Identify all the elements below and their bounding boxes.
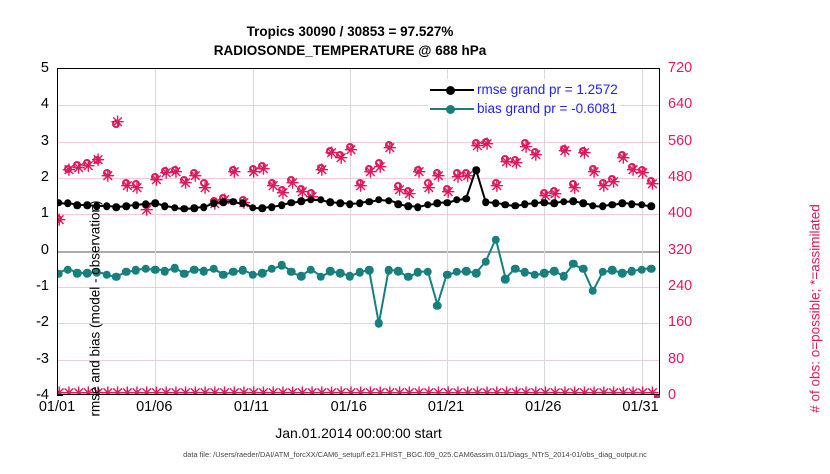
rmse-marker [132, 202, 140, 210]
y-tick-label-right: 400 [668, 205, 692, 221]
obs-assimilated-marker [646, 182, 657, 193]
legend-label-bias: bias grand pr = -0.6081 [477, 101, 617, 116]
bias-marker [443, 270, 452, 279]
bias-marker [277, 261, 286, 270]
rmse-marker [550, 200, 558, 208]
x-tick-label: 01/06 [136, 399, 172, 415]
rmse-marker [171, 204, 179, 212]
rmse-marker [346, 200, 354, 208]
bias-marker [346, 272, 355, 281]
bias-marker [248, 270, 257, 279]
rmse-marker [424, 201, 432, 209]
rmse-marker [385, 197, 393, 205]
bias-marker [647, 265, 656, 274]
series-line-segment [495, 239, 507, 279]
rmse-marker [482, 199, 490, 207]
bias-marker [540, 269, 549, 278]
bias-marker [375, 319, 384, 328]
rmse-marker [570, 198, 578, 206]
rmse-marker [229, 198, 237, 206]
rmse-marker [628, 200, 636, 208]
obs-assimilated-marker [558, 149, 569, 160]
y-axis-left-label: rmse and bias (model - observation) [88, 144, 103, 474]
rmse-marker [443, 199, 451, 207]
bias-marker [287, 267, 296, 276]
rmse-marker [190, 204, 198, 212]
y-tick-label-left: 4 [41, 96, 49, 112]
rmse-marker [239, 200, 247, 208]
bias-marker [336, 269, 345, 278]
rmse-marker [74, 202, 82, 210]
bias-marker [161, 267, 170, 276]
obs-assimilated-marker [490, 183, 501, 194]
rmse-marker [327, 199, 335, 207]
y-tick-label-left: 1 [41, 205, 49, 221]
y-tick-label-right: 160 [668, 314, 692, 330]
y-tick-label-left: 3 [41, 133, 49, 149]
chart-legend: rmse grand pr = 1.2572 bias grand pr = -… [428, 79, 620, 119]
bias-marker [521, 268, 530, 277]
chart-page: Tropics 30090 / 30853 = 97.527% RADIOSON… [0, 0, 830, 470]
bias-marker [268, 265, 277, 274]
gridline-vertical [155, 69, 156, 394]
rmse-marker [200, 203, 208, 211]
bias-marker [559, 272, 568, 281]
bias-marker [414, 268, 423, 277]
rmse-marker [521, 200, 529, 208]
obs-assimilated-marker [228, 170, 239, 181]
bias-marker [453, 267, 462, 276]
rmse-marker [404, 203, 412, 211]
tick-mark-right [654, 397, 660, 398]
y-tick-label-left: 5 [41, 60, 49, 76]
title-line-2: RADIOSONDE_TEMPERATURE @ 688 hPa [0, 41, 700, 60]
rmse-marker [64, 200, 72, 208]
obs-assimilated-marker [480, 142, 491, 153]
rmse-marker [541, 199, 549, 207]
rmse-marker [278, 202, 286, 210]
rmse-marker [502, 201, 510, 209]
obs-assimilated-marker [412, 170, 423, 181]
y-tick-label-left: -3 [36, 351, 49, 367]
gridline-horizontal [58, 142, 659, 143]
y-axis-right-label: # of obs: o=possible; *=assimilated [808, 144, 823, 474]
obs-assimilated-marker [130, 185, 141, 196]
rmse-marker [249, 204, 257, 212]
rmse-marker [288, 199, 296, 207]
y-tick-label-right: 640 [668, 96, 692, 112]
bias-marker [355, 268, 364, 277]
rmse-marker [103, 203, 111, 211]
bias-marker [141, 265, 150, 274]
rmse-marker [161, 203, 169, 211]
x-tick-label: 01/31 [622, 399, 658, 415]
bias-marker [628, 267, 637, 276]
bias-marker [530, 270, 539, 279]
data-file-footer: data file: /Users/raeder/DAI/ATM_forcXX/… [0, 450, 830, 459]
x-tick-label: 01/11 [234, 399, 269, 415]
rmse-marker [142, 200, 150, 208]
bias-marker [102, 270, 111, 279]
rmse-marker [492, 200, 500, 208]
bias-marker [365, 266, 374, 275]
gridline-horizontal [58, 251, 659, 253]
rmse-marker [599, 203, 607, 211]
rmse-marker [307, 196, 315, 204]
bias-marker [501, 275, 510, 284]
obs-assimilated-marker [140, 207, 151, 218]
obs-assimilated-marker [344, 147, 355, 158]
rmse-marker [297, 198, 305, 206]
x-tick-label: 01/21 [428, 399, 464, 415]
bias-marker [112, 273, 121, 282]
obs-assimilated-marker [315, 168, 326, 179]
bias-marker [404, 273, 413, 282]
x-axis-label: Jan.01.2014 00:00:00 start [57, 425, 660, 441]
obs-baseline-marker [646, 391, 657, 395]
bias-marker [132, 266, 141, 275]
gridline-horizontal [58, 287, 659, 288]
rmse-marker [122, 203, 130, 211]
rmse-marker [375, 196, 383, 204]
rmse-marker [579, 200, 587, 208]
legend-item-rmse[interactable]: rmse grand pr = 1.2572 [430, 80, 618, 99]
obs-assimilated-marker [111, 120, 122, 131]
bias-marker [569, 259, 578, 268]
bias-marker [608, 266, 617, 275]
bias-marker [589, 286, 598, 295]
obs-assimilated-marker [101, 173, 112, 184]
rmse-marker [268, 203, 276, 211]
rmse-marker [472, 166, 480, 174]
gridline-vertical [253, 69, 254, 394]
bias-marker [58, 269, 62, 278]
bias-marker [384, 266, 393, 275]
rmse-marker [336, 200, 344, 208]
bias-marker [472, 269, 481, 278]
y-tick-label-left: 2 [41, 169, 49, 185]
rmse-marker [395, 200, 403, 208]
bias-marker [219, 270, 228, 279]
obs-assimilated-marker [198, 185, 209, 196]
bias-marker [423, 267, 432, 276]
bias-marker [63, 265, 72, 274]
bias-marker [394, 267, 403, 276]
bias-marker [258, 269, 267, 278]
bias-marker [550, 267, 559, 276]
bias-marker [511, 265, 520, 274]
y-tick-label-right: 0 [668, 387, 676, 403]
obs-assimilated-marker [257, 166, 268, 177]
bias-marker [326, 267, 335, 276]
gridline-vertical [642, 69, 643, 394]
rmse-marker [434, 200, 442, 208]
y-tick-label-right: 320 [668, 242, 692, 258]
obs-assimilated-marker [58, 218, 64, 229]
rmse-marker [210, 200, 218, 208]
rmse-marker [511, 202, 519, 210]
obs-assimilated-marker [383, 145, 394, 156]
obs-assimilated-marker [568, 185, 579, 196]
bias-marker [239, 266, 248, 275]
rmse-marker [531, 200, 539, 208]
rmse-marker [648, 203, 656, 211]
bias-marker [73, 269, 82, 278]
y-tick-label-left: -2 [36, 314, 49, 330]
bias-marker [637, 265, 646, 274]
rmse-marker [560, 198, 568, 206]
rmse-marker [618, 200, 626, 208]
bias-marker [122, 267, 131, 276]
bias-marker [433, 302, 442, 311]
gridline-horizontal [58, 323, 659, 324]
bias-marker [579, 265, 588, 274]
rmse-marker [453, 196, 461, 204]
rmse-marker [589, 202, 597, 210]
bias-marker [151, 265, 160, 274]
obs-assimilated-marker [354, 183, 365, 194]
bias-marker [618, 269, 627, 278]
y-tick-label-right: 80 [668, 351, 684, 367]
legend-label-rmse: rmse grand pr = 1.2572 [477, 82, 618, 97]
chart-title: Tropics 30090 / 30853 = 97.527% RADIOSON… [0, 22, 700, 60]
obs-assimilated-marker [422, 185, 433, 196]
title-line-1: Tropics 30090 / 30853 = 97.527% [0, 22, 700, 41]
bias-marker [462, 267, 471, 276]
rmse-marker [220, 199, 228, 207]
y-tick-label-right: 240 [668, 278, 692, 294]
rmse-marker [463, 195, 471, 203]
rmse-marker [258, 204, 266, 212]
rmse-marker [181, 205, 189, 213]
x-tick-label: 01/16 [331, 399, 367, 415]
bias-marker [229, 267, 238, 276]
series-line-segment [378, 270, 390, 323]
gridline-horizontal [58, 360, 659, 361]
rmse-marker [356, 200, 364, 208]
obs-assimilated-marker [529, 153, 540, 164]
bias-marker [190, 265, 199, 274]
bias-marker [180, 270, 189, 279]
bias-marker [598, 267, 607, 276]
rmse-marker [317, 196, 325, 204]
y-tick-label-right: 720 [668, 60, 692, 76]
obs-assimilated-marker [432, 173, 443, 184]
obs-assimilated-marker [607, 180, 618, 191]
bias-marker [307, 265, 316, 274]
y-tick-label-right: 560 [668, 133, 692, 149]
rmse-marker [414, 203, 422, 211]
y-tick-label-right: 480 [668, 169, 692, 185]
bias-marker [209, 265, 218, 274]
x-tick-label: 01/26 [525, 399, 561, 415]
rmse-marker [113, 203, 121, 211]
obs-assimilated-marker [403, 192, 414, 203]
bias-marker [316, 273, 325, 282]
bias-marker [170, 264, 179, 273]
bias-marker [491, 236, 500, 245]
tick-mark-left [57, 395, 63, 396]
rmse-marker [638, 201, 646, 209]
y-tick-label-left: 0 [41, 242, 49, 258]
bias-marker [200, 267, 209, 276]
gridline-vertical [350, 69, 351, 394]
rmse-marker [609, 201, 617, 209]
x-tick-label: 01/01 [39, 399, 75, 415]
rmse-marker [365, 198, 373, 206]
y-tick-label-left: -1 [36, 278, 49, 294]
bias-marker [297, 272, 306, 281]
legend-swatch-rmse [430, 84, 474, 96]
obs-assimilated-marker [373, 164, 384, 175]
obs-assimilated-marker [578, 151, 589, 162]
rmse-marker [152, 200, 160, 208]
obs-assimilated-marker [510, 161, 521, 172]
legend-swatch-bias [430, 103, 474, 115]
rmse-marker [58, 199, 62, 207]
bias-marker [482, 257, 491, 266]
legend-item-bias[interactable]: bias grand pr = -0.6081 [430, 99, 618, 118]
